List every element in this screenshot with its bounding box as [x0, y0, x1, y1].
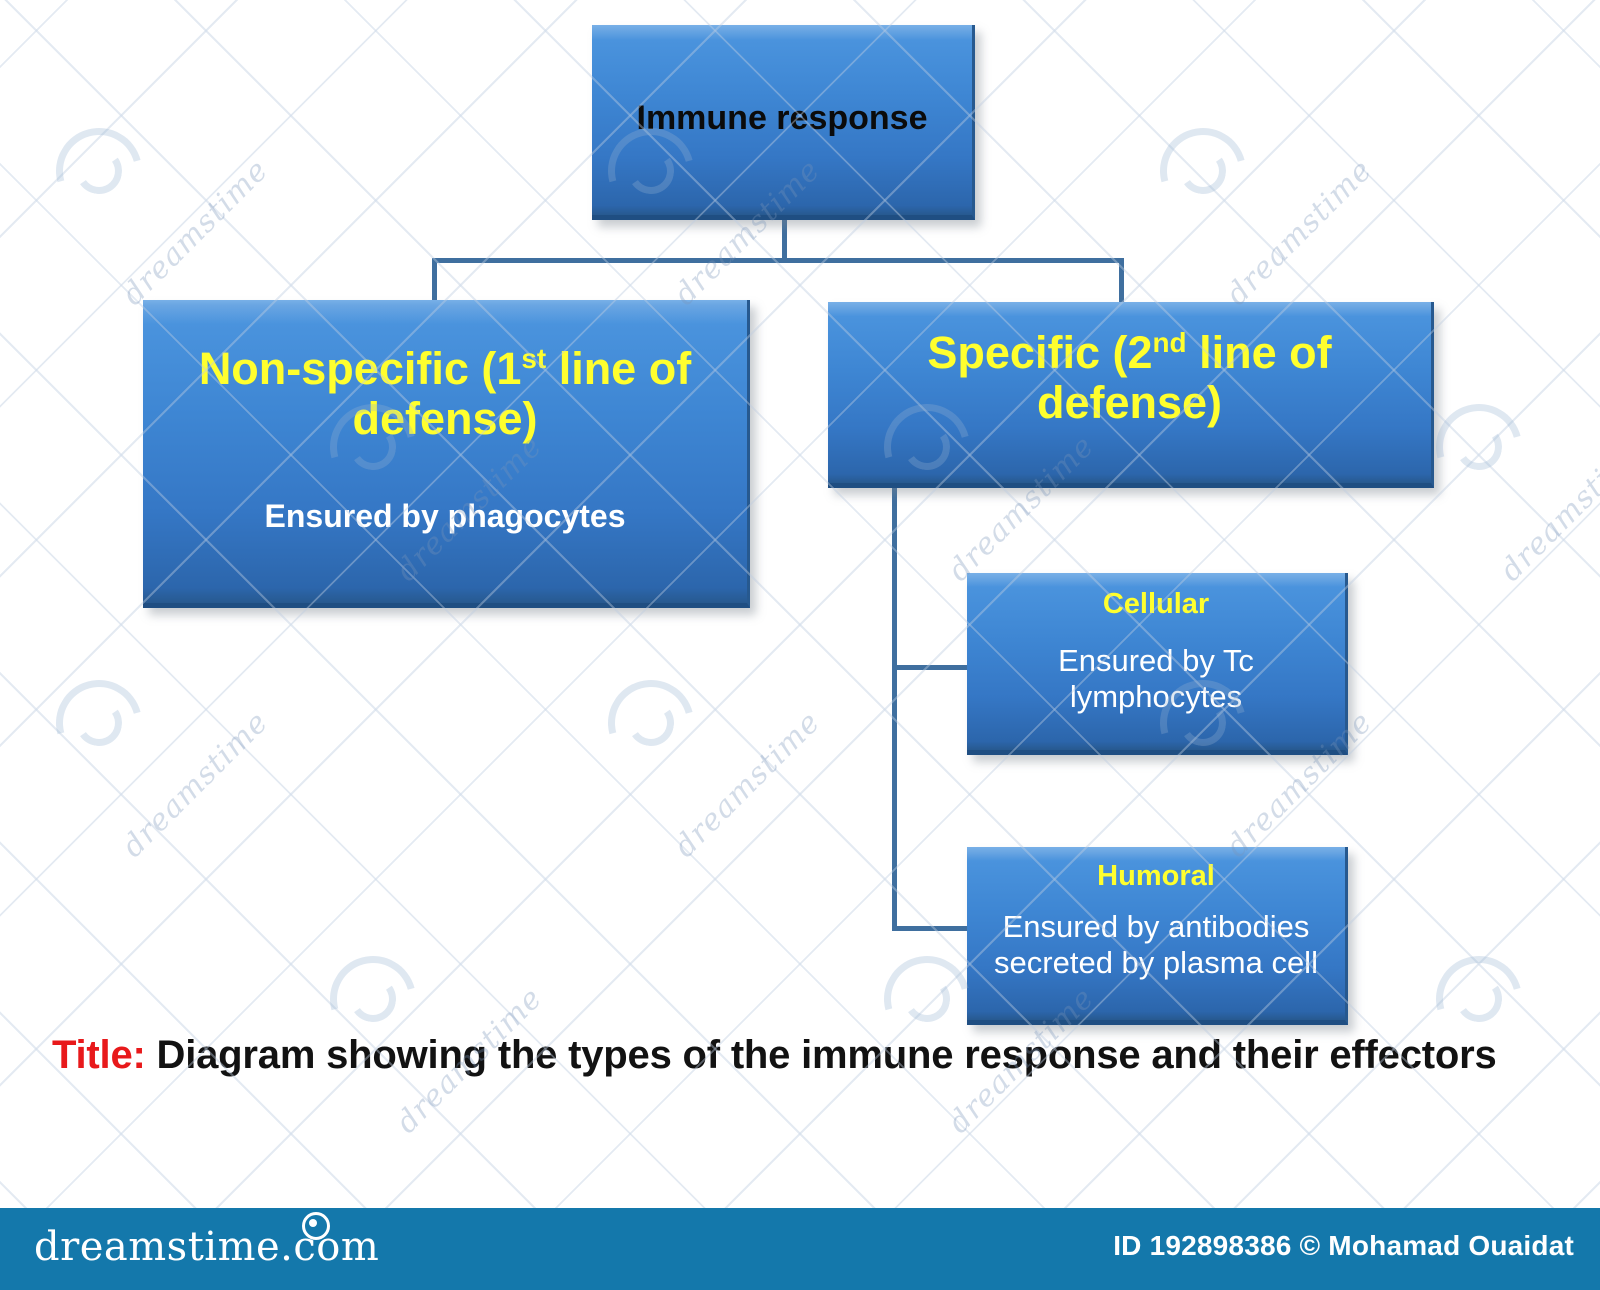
watermark-text: dreamstime [1220, 153, 1380, 313]
node-humoral-title: Humoral [973, 860, 1339, 892]
watermark-text: dreamstime [116, 705, 276, 865]
spiral-icon [56, 680, 142, 766]
caption-text: Diagram showing the types of the immune … [146, 1033, 1497, 1077]
diagram-canvas: Immune response Non-specific (1st line o… [0, 0, 1600, 1290]
spiral-icon [302, 1212, 330, 1240]
node-cellular[interactable]: Cellular Ensured by Tc lymphocytes [967, 573, 1348, 755]
spiral-icon [608, 680, 694, 766]
spiral-icon [1160, 128, 1246, 214]
node-cellular-title: Cellular [973, 588, 1339, 620]
node-immune-response-title: Immune response [592, 99, 972, 138]
node-non-specific-subtitle: Ensured by phagocytes [151, 498, 739, 535]
node-specific[interactable]: Specific (2nd line of defense) [828, 302, 1434, 488]
node-humoral-subtitle: Ensured by antibodies secreted by plasma… [955, 909, 1357, 980]
spiral-icon [1436, 404, 1522, 490]
image-credit: ID 192898386 © Mohamad Ouaidat [1113, 1230, 1574, 1262]
dreamstime-logo[interactable]: dreamstime.com [34, 1224, 379, 1270]
connector-stub-cellular [892, 665, 972, 670]
caption: Title: Diagram showing the types of the … [52, 1030, 1552, 1081]
node-humoral[interactable]: Humoral Ensured by antibodies secreted b… [967, 847, 1348, 1025]
caption-label: Title: [52, 1033, 146, 1077]
connector-root-stem [782, 220, 787, 262]
node-specific-title-prefix: Specific (2 [927, 327, 1152, 378]
node-cellular-subtitle: Ensured by Tc lymphocytes [973, 643, 1339, 714]
spiral-icon [56, 128, 142, 214]
watermark-text: dreamstime [1494, 429, 1600, 589]
node-non-specific-title: Non-specific (1st line of defense) [151, 344, 739, 445]
watermark-text: dreamstime [668, 705, 828, 865]
node-non-specific-title-prefix: Non-specific (1 [199, 343, 522, 394]
node-specific-title-superscript: nd [1153, 327, 1187, 358]
node-immune-response[interactable]: Immune response [592, 25, 975, 220]
footer-bar: dreamstime.com ID 192898386 © Mohamad Ou… [0, 1208, 1600, 1290]
connector-specific-spine [892, 488, 897, 931]
node-non-specific[interactable]: Non-specific (1st line of defense) Ensur… [143, 300, 750, 608]
watermark-text: dreamstime [116, 153, 276, 313]
node-specific-title: Specific (2nd line of defense) [836, 328, 1423, 429]
node-non-specific-title-superscript: st [521, 343, 546, 374]
connector-drop-nonspecific [432, 258, 437, 302]
connector-horizontal-bus [432, 258, 1124, 263]
connector-drop-specific [1119, 258, 1124, 304]
